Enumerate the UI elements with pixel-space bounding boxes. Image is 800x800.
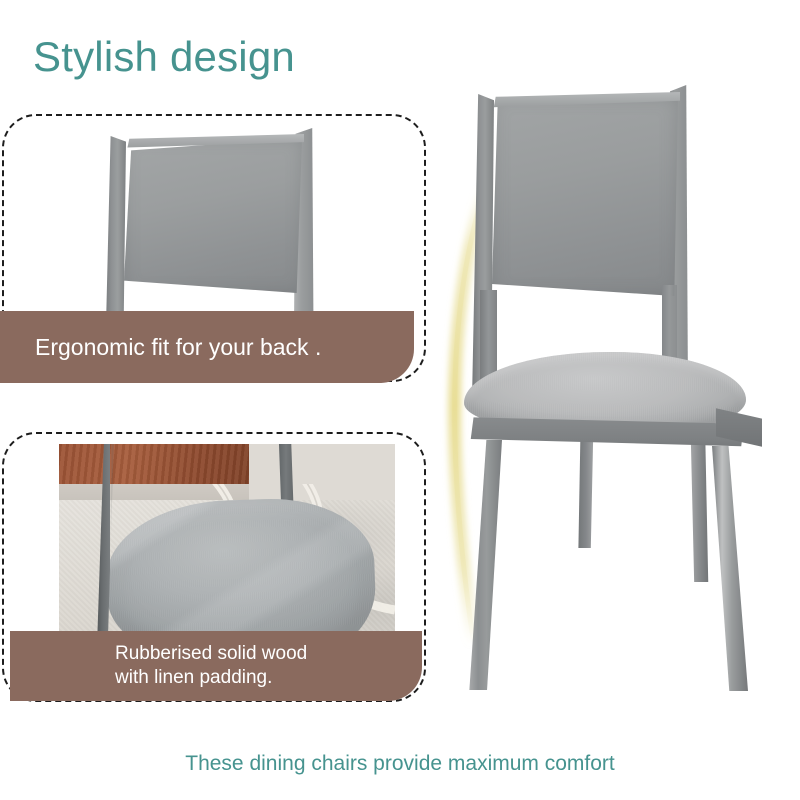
hero-chair-image — [440, 80, 800, 690]
ergonomic-callout-banner: Ergonomic fit for your back . — [0, 311, 414, 383]
material-callout-line-2: with linen padding. — [115, 666, 422, 690]
infographic-canvas: Stylish design — [0, 0, 800, 800]
page-title: Stylish design — [33, 36, 295, 78]
material-callout-line-1: Rubberised solid wood — [115, 642, 422, 666]
bottom-caption: These dining chairs provide maximum comf… — [0, 752, 800, 776]
chair-back-panel — [492, 96, 678, 296]
chair-rear-left-leg — [576, 436, 596, 548]
ergonomic-callout-text: Ergonomic fit for your back . — [35, 334, 414, 361]
inset-back-panel — [124, 138, 302, 293]
material-callout-banner: Rubberised solid wood with linen padding… — [10, 631, 422, 701]
chair-front-right-leg — [712, 446, 748, 691]
chair-rear-right-leg — [688, 432, 710, 582]
chair-front-left-leg — [468, 440, 502, 690]
